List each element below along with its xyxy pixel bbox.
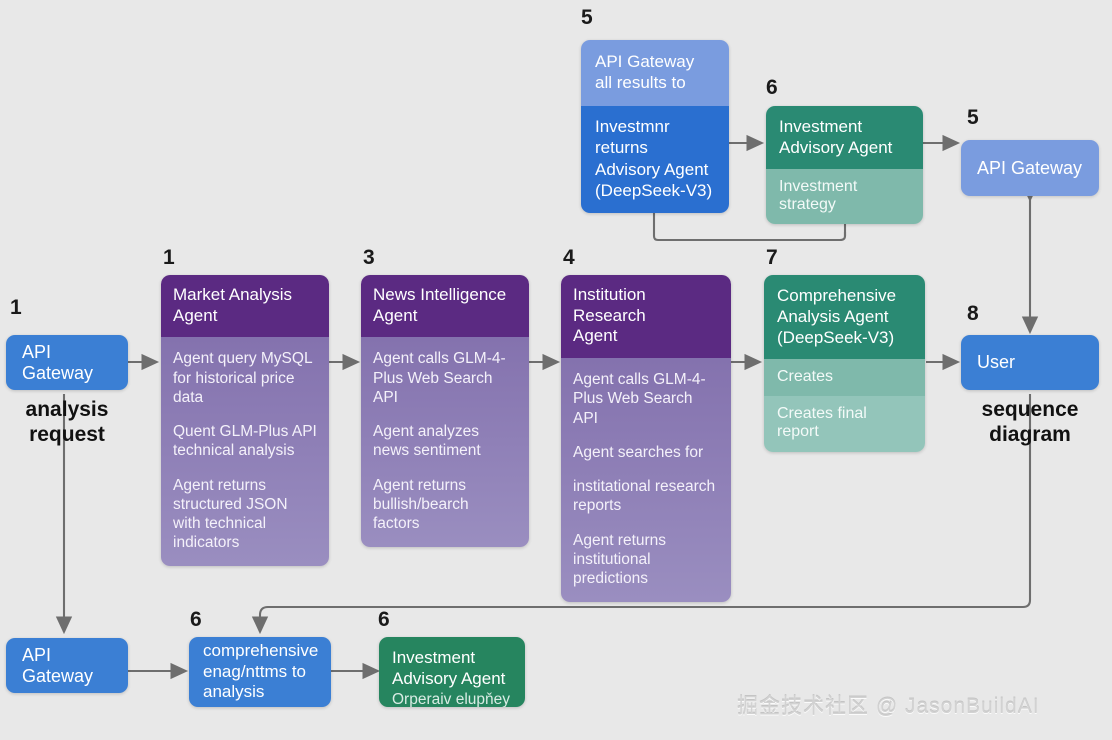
institution-research-step: institational research reports	[573, 477, 719, 515]
institution-research-step: Agent searches for	[573, 443, 719, 462]
investment-advisory-line1: Investment	[779, 116, 910, 137]
node-api-gateway-right[interactable]: API Gateway	[961, 140, 1099, 196]
api-gateway-bottom-section: Investmnr returns Advisory Agent (DeepSe…	[581, 106, 729, 214]
seq-label-5-top: 5	[581, 6, 593, 30]
seq-label-6-investment-bottom: 6	[378, 608, 390, 632]
node-investment-advisory-bottom[interactable]: Investment Advisory Agent Orperaiv elupň…	[379, 637, 525, 707]
seq-label-6-top: 6	[766, 76, 778, 100]
seq-label-3-news: 3	[363, 246, 375, 270]
comprehensive-bottom-line2: enag/nttms to	[203, 662, 318, 683]
news-intelligence-steps: Agent calls GLM-4-Plus Web Search API Ag…	[361, 337, 529, 547]
caption-request: request	[6, 423, 128, 448]
seq-label-1-market: 1	[163, 246, 175, 270]
caption-analysis: analysis	[6, 398, 128, 423]
seq-label-4-institution: 4	[563, 246, 575, 270]
node-market-analysis-agent[interactable]: Market Analysis Agent Agent query MySQL …	[161, 275, 329, 566]
market-analysis-header: Market Analysis Agent	[161, 275, 329, 337]
investment-bottom-sub: Orperaiv elupňey	[392, 690, 512, 707]
caption-sequence-diagram: sequence diagram	[957, 398, 1103, 448]
news-intelligence-step: Agent returns bullish/bearch factors	[373, 476, 517, 534]
node-api-gateway-bottom[interactable]: API Gateway	[6, 638, 128, 693]
seq-label-5-right: 5	[967, 106, 979, 130]
comprehensive-final-report-row: Creates final report	[764, 396, 925, 452]
api-gateway-right-label: API Gateway	[977, 158, 1082, 179]
news-intelligence-title-line2: Agent	[373, 306, 517, 327]
comprehensive-title-line3: (DeepSeek-V3)	[777, 327, 912, 348]
user-label: User	[977, 352, 1015, 373]
comprehensive-creates-row: Creates	[764, 359, 925, 396]
comprehensive-title-line2: Analysis Agent	[777, 306, 912, 327]
news-intelligence-step: Agent analyzes news sentiment	[373, 422, 517, 460]
api-gateway-bot-line2: Advisory Agent	[595, 159, 715, 180]
seq-label-6-comprehensive-bottom: 6	[190, 608, 202, 632]
api-gateway-bot-line1: Investmnr returns	[595, 116, 715, 159]
investment-bottom-line2: Advisory Agent	[392, 668, 512, 689]
seq-label-1-left: 1	[10, 296, 22, 320]
institution-research-header: Institution Research Agent	[561, 275, 731, 358]
institution-research-steps: Agent calls GLM-4-Plus Web Search API Ag…	[561, 358, 731, 602]
institution-research-title-line2: Agent	[573, 326, 719, 347]
comprehensive-bottom-line1: comprehensive	[203, 641, 318, 662]
comprehensive-bottom-line3: analysis	[203, 682, 318, 703]
node-institution-research-agent[interactable]: Institution Research Agent Agent calls G…	[561, 275, 731, 602]
api-gateway-bottom-label: API Gateway	[22, 645, 112, 687]
api-gateway-top-line2: all results to	[595, 72, 715, 93]
news-intelligence-header: News Intelligence Agent	[361, 275, 529, 337]
node-user[interactable]: User	[961, 335, 1099, 390]
market-analysis-steps: Agent query MySQL for historical price d…	[161, 337, 329, 566]
caption-diagram: diagram	[957, 423, 1103, 448]
market-analysis-step: Quent GLM-Plus API technical analysis	[173, 422, 317, 460]
institution-research-step: Agent returns institutional predictions	[573, 531, 719, 589]
market-analysis-title-line2: Agent	[173, 306, 317, 327]
caption-analysis-request: analysis request	[6, 398, 128, 448]
investment-advisory-line2: Advisory Agent	[779, 137, 910, 158]
api-gateway-top-section: API Gateway all results to	[581, 40, 729, 106]
api-gateway-left-label: API Gateway	[22, 342, 112, 384]
seq-label-7-comprehensive: 7	[766, 246, 778, 270]
market-analysis-step: Agent query MySQL for historical price d…	[173, 349, 317, 407]
market-analysis-step: Agent returns structured JSON with techn…	[173, 476, 317, 553]
investment-advisory-title: Investment Advisory Agent	[766, 106, 923, 169]
news-intelligence-step: Agent calls GLM-4-Plus Web Search API	[373, 349, 517, 407]
caption-sequence: sequence	[957, 398, 1103, 423]
api-gateway-top-line1: API Gateway	[595, 51, 715, 72]
node-comprehensive-analysis-agent[interactable]: Comprehensive Analysis Agent (DeepSeek-V…	[764, 275, 925, 452]
diagram-canvas: 5 API Gateway all results to Investmnr r…	[0, 0, 1112, 740]
comprehensive-bottom-text: comprehensive enag/nttms to analysis	[203, 641, 318, 703]
seq-label-8-user: 8	[967, 302, 979, 326]
market-analysis-title-line1: Market Analysis	[173, 285, 317, 306]
node-investment-advisory-agent-top[interactable]: Investment Advisory Agent Investment str…	[766, 106, 923, 224]
investment-strategy-row: Investment strategy	[766, 169, 923, 224]
comprehensive-analysis-title: Comprehensive Analysis Agent (DeepSeek-V…	[764, 275, 925, 359]
node-api-gateway-left[interactable]: API Gateway	[6, 335, 128, 390]
comprehensive-title-line1: Comprehensive	[777, 285, 912, 306]
news-intelligence-title-line1: News Intelligence	[373, 285, 517, 306]
institution-research-title-line1: Institution Research	[573, 285, 719, 326]
institution-research-step: Agent calls GLM-4-Plus Web Search API	[573, 370, 719, 428]
investment-bottom-line1: Investment	[392, 647, 512, 668]
node-comprehensive-bottom[interactable]: comprehensive enag/nttms to analysis	[189, 637, 331, 707]
watermark-text: 掘金技术社区 @ JasonBuildAI	[737, 690, 1040, 720]
node-news-intelligence-agent[interactable]: News Intelligence Agent Agent calls GLM-…	[361, 275, 529, 547]
api-gateway-bot-line3: (DeepSeek-V3)	[595, 180, 715, 201]
node-api-gateway-all-results[interactable]: API Gateway all results to Investmnr ret…	[581, 40, 729, 213]
